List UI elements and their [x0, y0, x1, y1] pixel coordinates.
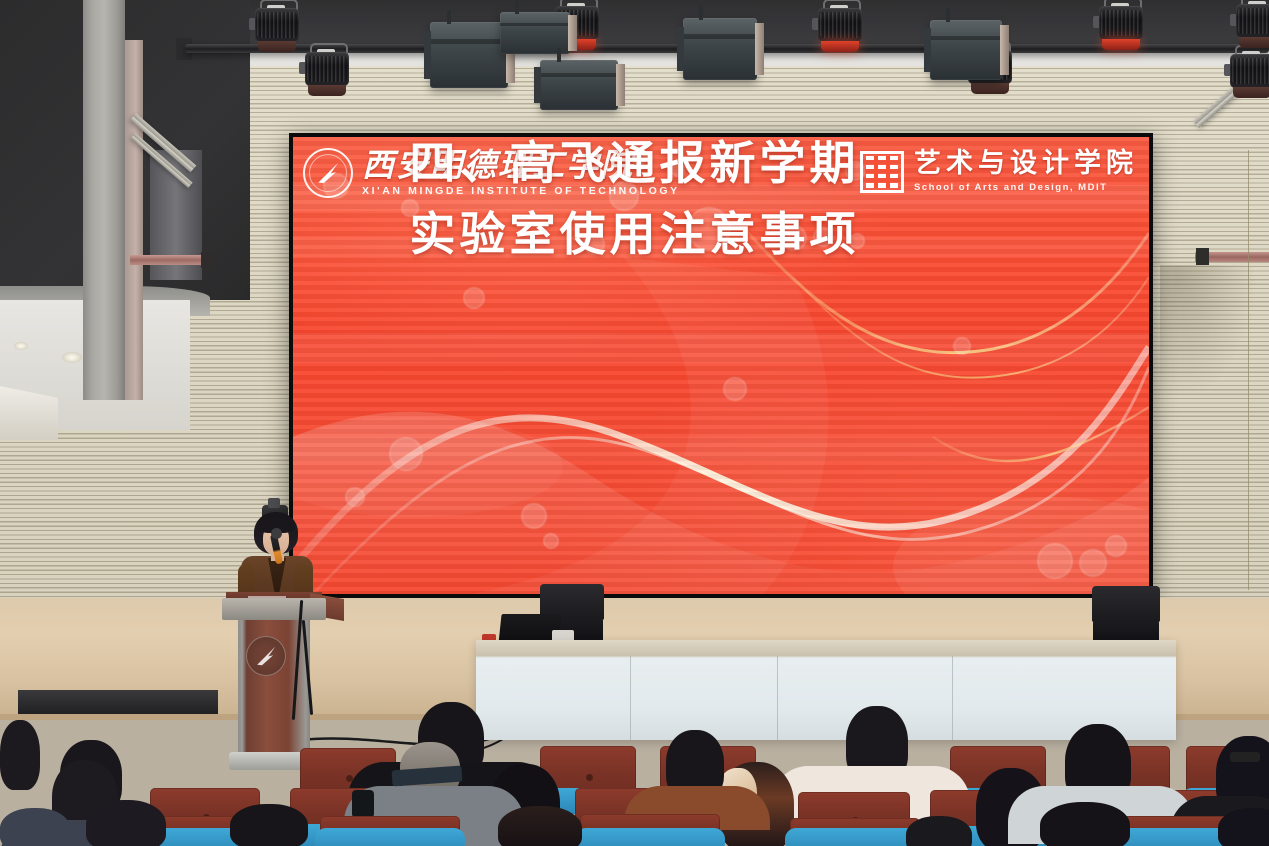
auditorium-scene: 西安明德理工学院 XI'AN MINGDE INSTITUTE OF TECHN… — [0, 0, 1269, 846]
auditorium-seat[interactable] — [790, 818, 920, 846]
audience-head — [906, 816, 972, 846]
audience-head — [0, 720, 40, 790]
downlight-icon — [62, 352, 82, 363]
podium-crest-icon — [246, 636, 286, 676]
audience-head — [86, 800, 166, 846]
wall-shadow — [1160, 265, 1255, 395]
audience-head — [230, 804, 308, 846]
audience-head — [1040, 802, 1130, 846]
fresnel-fixture-icon — [430, 22, 508, 88]
audience-head — [1218, 808, 1269, 846]
wall-light-bracket — [268, 498, 280, 508]
stage-chair[interactable] — [1092, 586, 1160, 648]
eyeglasses-icon — [1230, 752, 1260, 762]
podium-top — [222, 598, 326, 620]
audience-head — [498, 806, 582, 846]
auditorium-seat[interactable] — [320, 816, 460, 846]
auditorium-seat[interactable] — [580, 814, 720, 846]
slide-title: 四、高飞通报新学期 实验室使用注意事项 — [0, 128, 1269, 271]
camera-device[interactable] — [352, 790, 374, 818]
downlight-icon — [14, 342, 28, 350]
slide-title-line-2: 实验室使用注意事项 — [0, 199, 1269, 270]
wall-vent — [18, 690, 218, 714]
audience-head — [0, 808, 70, 846]
slide-title-line-1: 四、高飞通报新学期 — [0, 128, 1269, 199]
panel-table-top — [476, 640, 1176, 656]
fresnel-fixture-icon — [540, 60, 618, 110]
fresnel-fixture-icon — [683, 18, 757, 80]
soffit-angle — [0, 386, 58, 440]
fresnel-fixture-icon — [930, 20, 1002, 80]
